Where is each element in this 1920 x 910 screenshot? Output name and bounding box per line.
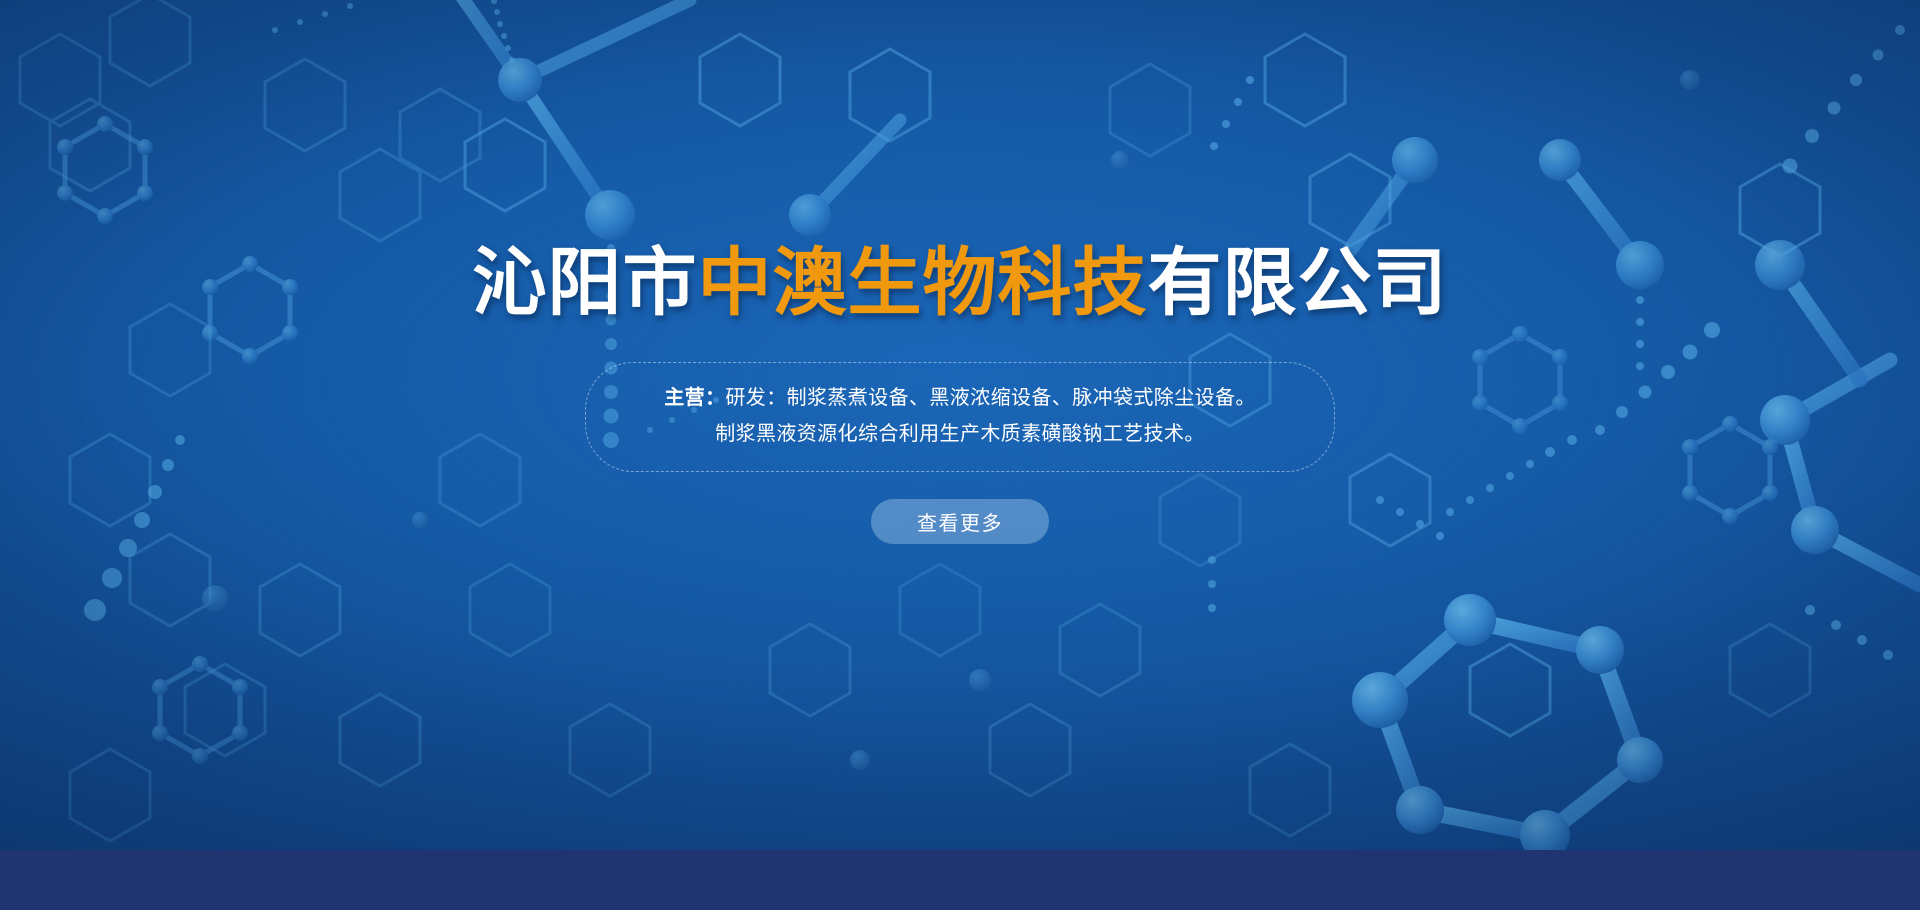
- business-scope-box: 主营：研发：制浆蒸煮设备、黑液浓缩设备、脉冲袋式除尘设备。 制浆黑液资源化综合利…: [585, 362, 1335, 472]
- page-title: 沁阳市中澳生物科技有限公司: [473, 246, 1448, 320]
- hero-content: 沁阳市中澳生物科技有限公司 主营：研发：制浆蒸煮设备、黑液浓缩设备、脉冲袋式除尘…: [0, 0, 1920, 850]
- business-scope-line-1: 主营：研发：制浆蒸煮设备、黑液浓缩设备、脉冲袋式除尘设备。: [612, 380, 1308, 416]
- title-segment-suffix: 有限公司: [1148, 241, 1448, 324]
- view-more-button[interactable]: 查看更多: [871, 499, 1049, 544]
- business-scope-line-1-text: 研发：制浆蒸煮设备、黑液浓缩设备、脉冲袋式除尘设备。: [725, 387, 1255, 409]
- hero-banner: 沁阳市中澳生物科技有限公司 主营：研发：制浆蒸煮设备、黑液浓缩设备、脉冲袋式除尘…: [0, 0, 1920, 850]
- bottom-bar: [0, 850, 1920, 910]
- business-scope-line-2: 制浆黑液资源化综合利用生产木质素磺酸钠工艺技术。: [612, 416, 1308, 452]
- title-segment-accent: 中澳生物科技: [698, 241, 1148, 324]
- title-segment-prefix: 沁阳市: [473, 241, 698, 324]
- page-root: 沁阳市中澳生物科技有限公司 主营：研发：制浆蒸煮设备、黑液浓缩设备、脉冲袋式除尘…: [0, 0, 1920, 910]
- business-scope-label: 主营：: [664, 387, 725, 409]
